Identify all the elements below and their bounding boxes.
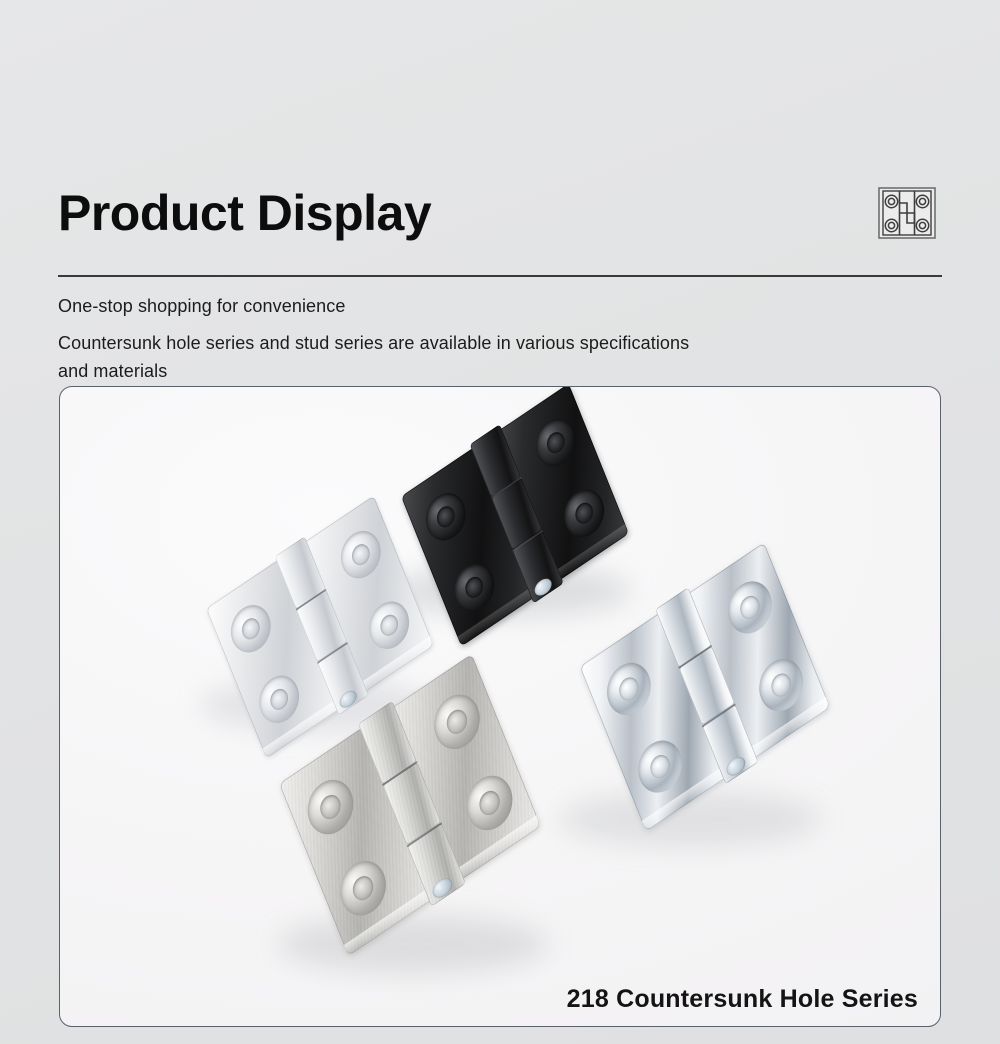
hinge-outline-icon [876, 182, 938, 244]
page-title: Product Display [58, 188, 431, 238]
series-label: 218 Countersunk Hole Series [567, 985, 918, 1014]
page-header: Product Display One-stop s [58, 175, 942, 386]
product-showcase-card: 218 Countersunk Hole Series [59, 386, 941, 1027]
shadow-steel [278, 915, 548, 973]
header-divider [58, 275, 942, 277]
subtitle-block: One-stop shopping for convenience Counte… [58, 293, 942, 386]
product-stage [60, 387, 940, 1026]
subtitle-primary: One-stop shopping for convenience [58, 293, 942, 320]
subtitle-secondary: Countersunk hole series and stud series … [58, 330, 698, 386]
title-row: Product Display [58, 175, 942, 251]
